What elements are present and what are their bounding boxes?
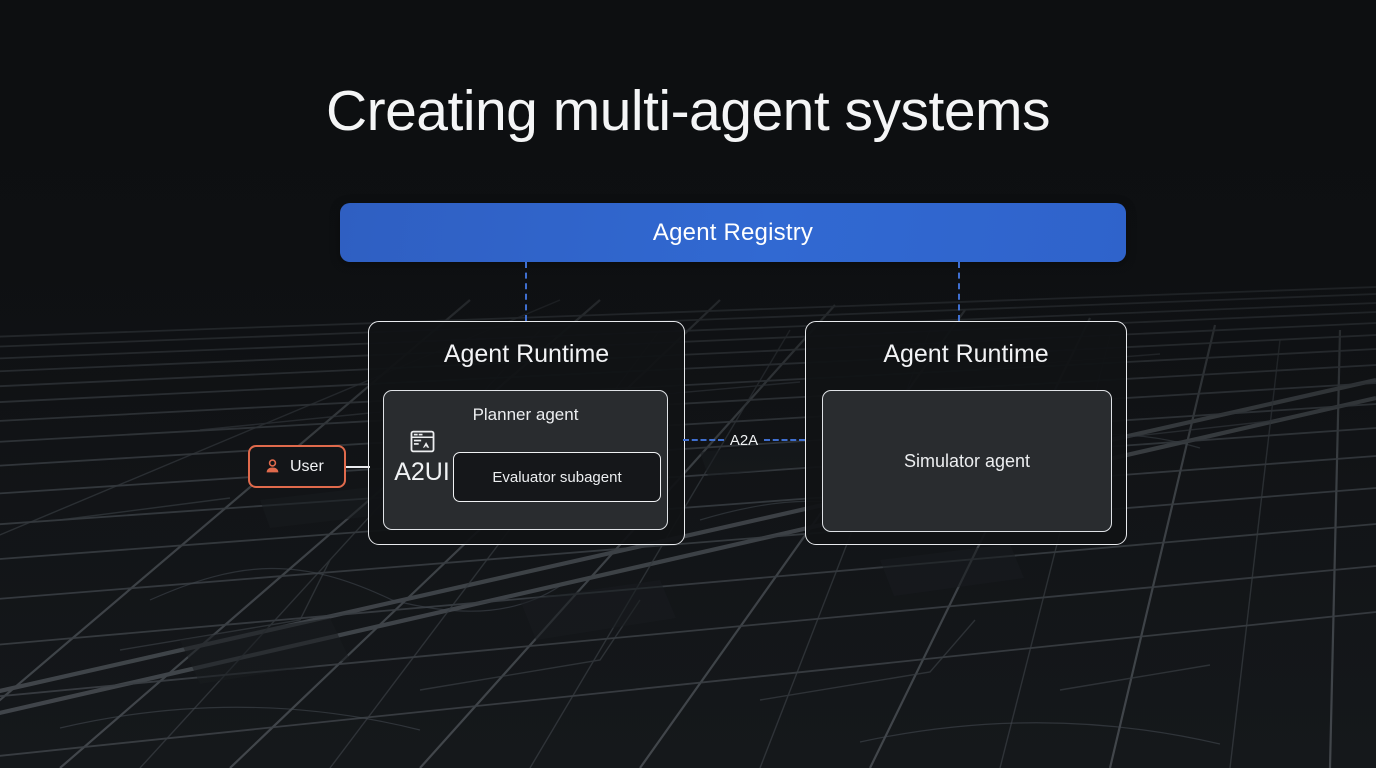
evaluator-subagent-box[interactable]: Evaluator subagent bbox=[453, 452, 661, 502]
connector-registry-to-left-runtime bbox=[525, 262, 527, 321]
page-title: Creating multi-agent systems bbox=[0, 78, 1376, 144]
slide-canvas: Creating multi-agent systems Agent Regis… bbox=[0, 0, 1376, 768]
a2ui-window-icon bbox=[409, 428, 436, 455]
planner-agent-label: Planner agent bbox=[384, 405, 667, 425]
evaluator-subagent-label: Evaluator subagent bbox=[492, 469, 621, 486]
agent-runtime-right[interactable]: Agent Runtime Simulator agent bbox=[805, 321, 1127, 545]
simulator-agent-panel[interactable]: Simulator agent bbox=[822, 390, 1112, 532]
connector-user-to-runtime bbox=[344, 466, 370, 468]
user-badge[interactable]: User bbox=[248, 445, 346, 488]
a2a-dash-right bbox=[764, 439, 805, 441]
a2a-label: A2A bbox=[724, 432, 764, 449]
a2ui-protocol-group: A2UI bbox=[394, 428, 450, 487]
person-icon bbox=[263, 457, 282, 476]
agent-runtime-left-title: Agent Runtime bbox=[369, 340, 684, 369]
a2a-dash-left bbox=[683, 439, 724, 441]
agent-registry-bar[interactable]: Agent Registry bbox=[340, 203, 1126, 262]
user-label: User bbox=[290, 458, 324, 476]
a2ui-label: A2UI bbox=[394, 457, 450, 487]
agent-registry-label: Agent Registry bbox=[653, 219, 813, 247]
connector-registry-to-right-runtime bbox=[958, 262, 960, 321]
simulator-agent-label: Simulator agent bbox=[904, 451, 1030, 472]
a2a-connector-group: A2A bbox=[683, 427, 805, 453]
agent-runtime-right-title: Agent Runtime bbox=[806, 340, 1126, 369]
